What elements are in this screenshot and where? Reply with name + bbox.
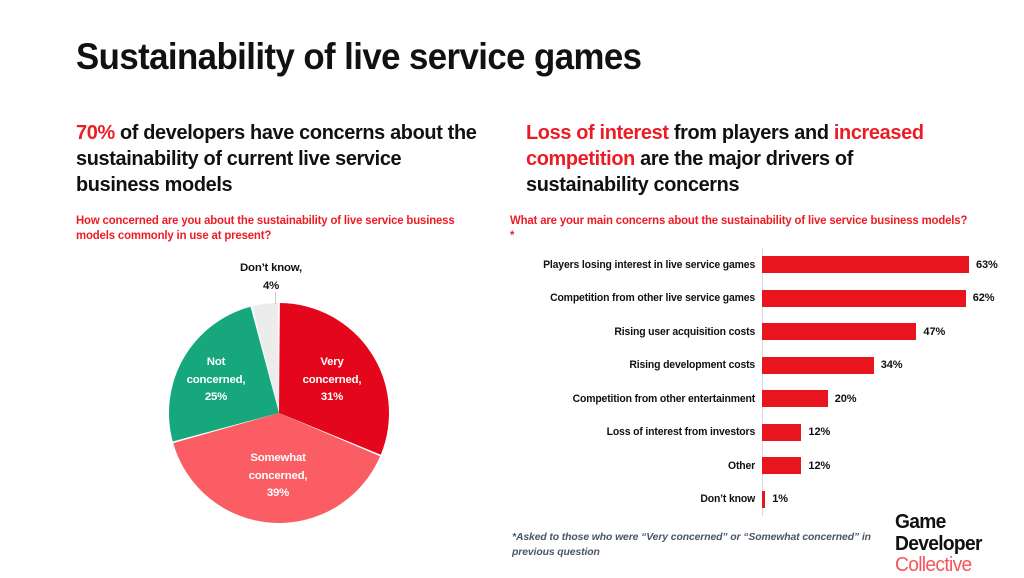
bar-fill bbox=[762, 323, 916, 340]
bar-fill bbox=[762, 424, 801, 441]
pie-label-line-2: concerned, bbox=[303, 374, 362, 386]
bar-fill bbox=[762, 290, 966, 307]
bar-category-label: Other bbox=[510, 460, 762, 472]
left-heading-accent: 70% bbox=[76, 121, 115, 144]
bar-value-label: 47% bbox=[923, 326, 945, 338]
logo-line-collective: Collective bbox=[895, 555, 982, 577]
pie-slice-label-very-concerned: Very concerned, 31% bbox=[286, 354, 378, 407]
pie-label-line-3: 31% bbox=[321, 391, 343, 403]
game-developer-collective-logo: Game Developer Collective bbox=[895, 512, 982, 577]
bar-value-label: 63% bbox=[976, 259, 998, 271]
bar-track: 20% bbox=[762, 382, 1006, 416]
bar-track: 1% bbox=[762, 483, 1006, 517]
logo-line-developer: Developer bbox=[895, 534, 982, 556]
bar-value-label: 1% bbox=[772, 493, 788, 505]
pie-callout-label: Don’t know, bbox=[240, 262, 302, 274]
left-heading-rest: of developers have concerns about the su… bbox=[76, 121, 476, 196]
bar-category-label: Competition from other entertainment bbox=[510, 393, 762, 405]
bar-value-label: 20% bbox=[835, 393, 857, 405]
bar-chart-row: Competition from other entertainment20% bbox=[506, 382, 1006, 416]
pie-label-line-2: concerned, bbox=[187, 374, 246, 386]
bar-category-label: Rising development costs bbox=[510, 359, 762, 371]
right-panel-heading: Loss of interest from players and increa… bbox=[526, 120, 953, 198]
bar-chart-row: Loss of interest from investors12% bbox=[506, 416, 1006, 450]
pie-label-line-1: Not bbox=[207, 356, 225, 368]
pie-slice-label-somewhat-concerned: Somewhat concerned, 39% bbox=[220, 450, 336, 503]
chart-footnote: *Asked to those who were “Very concerned… bbox=[512, 531, 872, 561]
right-panel-question: What are your main concerns about the su… bbox=[510, 213, 971, 244]
bar-category-label: Don’t know bbox=[510, 493, 762, 505]
pie-slice-label-not-concerned: Not concerned, 25% bbox=[170, 354, 262, 407]
bar-track: 62% bbox=[762, 282, 1006, 316]
pie-callout-leader-line bbox=[275, 292, 276, 304]
bar-chart: Players losing interest in live service … bbox=[506, 248, 1006, 516]
bar-chart-row: Rising user acquisition costs47% bbox=[506, 315, 1006, 349]
pie-label-line-2: concerned, bbox=[249, 470, 308, 482]
bar-track: 63% bbox=[762, 248, 1006, 282]
bar-track: 34% bbox=[762, 349, 1006, 383]
bar-fill bbox=[762, 390, 828, 407]
page-title: Sustainability of live service games bbox=[76, 36, 641, 78]
bar-category-label: Loss of interest from investors bbox=[510, 426, 762, 438]
left-panel-heading: 70% of developers have concerns about th… bbox=[76, 120, 483, 198]
pie-label-line-1: Somewhat bbox=[250, 452, 305, 464]
pie-label-line-1: Very bbox=[320, 356, 343, 368]
infographic-page: Sustainability of live service games 70%… bbox=[0, 0, 1024, 578]
bar-fill bbox=[762, 491, 765, 508]
bar-fill bbox=[762, 357, 874, 374]
bar-category-label: Rising user acquisition costs bbox=[510, 326, 762, 338]
right-heading-accent-1: Loss of interest bbox=[526, 121, 669, 144]
pie-label-line-3: 39% bbox=[267, 487, 289, 499]
bar-track: 47% bbox=[762, 315, 1006, 349]
bar-category-label: Competition from other live service game… bbox=[510, 292, 762, 304]
bar-chart-row: Competition from other live service game… bbox=[506, 282, 1006, 316]
right-heading-mid: from players and bbox=[669, 121, 834, 144]
bar-chart-row: Other12% bbox=[506, 449, 1006, 483]
bar-chart-row: Players losing interest in live service … bbox=[506, 248, 1006, 282]
bar-fill bbox=[762, 457, 801, 474]
bar-value-label: 62% bbox=[973, 292, 995, 304]
bar-value-label: 12% bbox=[808, 460, 830, 472]
pie-chart: Very concerned, 31% Somewhat concerned, … bbox=[168, 302, 390, 524]
left-panel-question: How concerned are you about the sustaina… bbox=[76, 213, 488, 244]
logo-line-game: Game bbox=[895, 512, 982, 534]
bar-value-label: 34% bbox=[881, 359, 903, 371]
pie-label-line-3: 25% bbox=[205, 391, 227, 403]
bar-track: 12% bbox=[762, 416, 1006, 450]
pie-callout-value: 4% bbox=[263, 280, 279, 292]
bar-category-label: Players losing interest in live service … bbox=[510, 259, 762, 271]
bar-chart-row: Rising development costs34% bbox=[506, 349, 1006, 383]
bar-value-label: 12% bbox=[808, 426, 830, 438]
bar-fill bbox=[762, 256, 969, 273]
bar-track: 12% bbox=[762, 449, 1006, 483]
pie-slice-label-dont-know: Don’t know, 4% bbox=[216, 260, 326, 295]
